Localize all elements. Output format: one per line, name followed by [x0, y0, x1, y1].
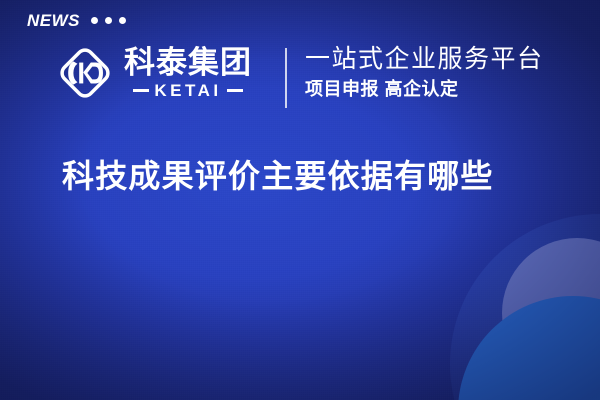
brand-rule-left-icon: [133, 89, 149, 92]
brand-logo-lockup: 科泰集团 KETAI: [56, 44, 252, 102]
brand-name-cn: 科泰集团: [124, 47, 252, 80]
news-banner: NEWS 科泰集团 KETA: [0, 0, 600, 400]
brand-text-block: 科泰集团 KETAI: [124, 47, 252, 99]
decorative-circle-bright: [458, 296, 600, 400]
brand-divider: [285, 48, 287, 108]
brand-name-en-row: KETAI: [124, 82, 252, 99]
brand-name-en: KETAI: [154, 82, 221, 99]
news-eyebrow: NEWS: [27, 12, 126, 29]
news-dot-icon: [105, 17, 112, 24]
decorative-circle-light: [502, 238, 600, 388]
ketai-diamond-kd-logo-icon: [56, 44, 114, 102]
news-dots-icon: [91, 17, 126, 24]
tagline-main: 一站式企业服务平台: [305, 45, 544, 74]
headline-title: 科技成果评价主要依据有哪些: [62, 157, 494, 195]
news-label: NEWS: [27, 12, 80, 29]
brand-rule-right-icon: [227, 89, 243, 92]
tagline-sub: 项目申报 高企认定: [305, 79, 544, 101]
news-dot-icon: [119, 17, 126, 24]
tagline-block: 一站式企业服务平台 项目申报 高企认定: [305, 45, 544, 100]
news-dot-icon: [91, 17, 98, 24]
decorative-glow-circle: [450, 214, 600, 400]
